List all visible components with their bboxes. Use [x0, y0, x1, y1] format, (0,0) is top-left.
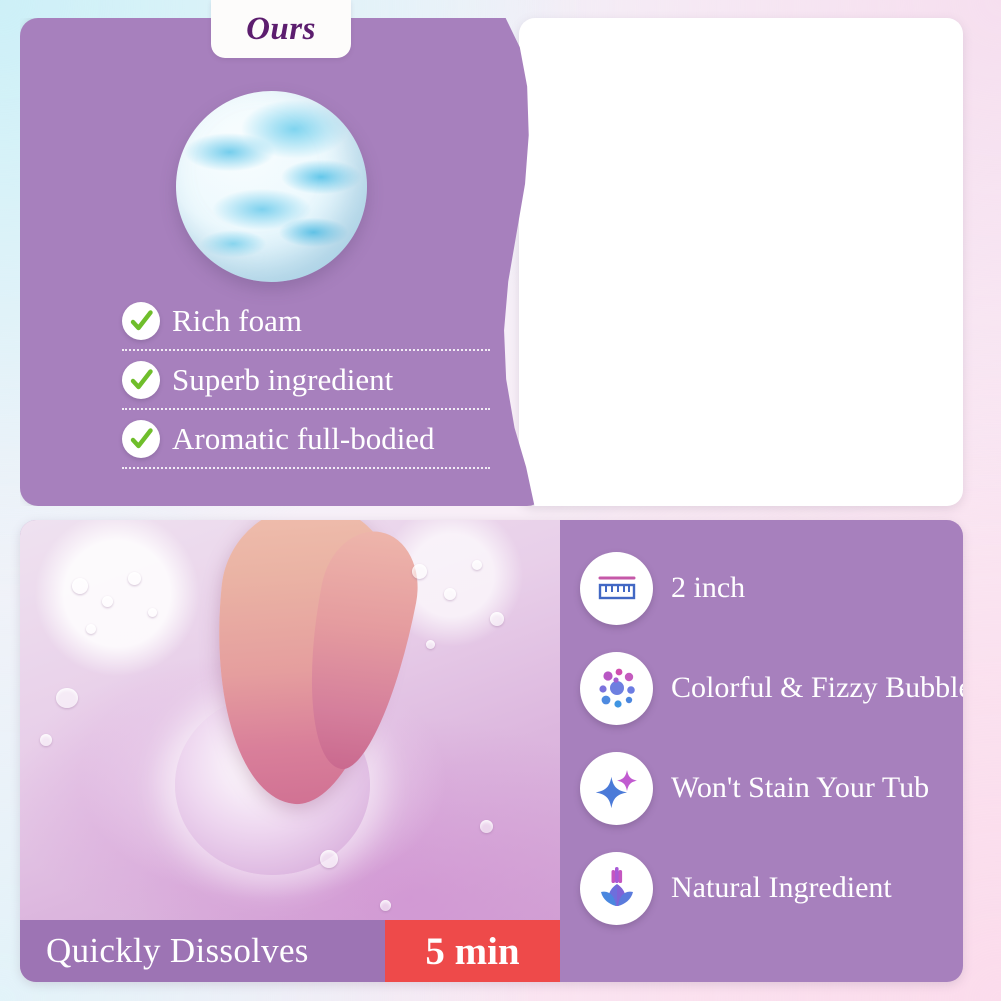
bubble: [102, 596, 113, 607]
bubble: [56, 688, 78, 708]
list-item: Aromatic full-bodied: [122, 410, 490, 467]
bubble: [72, 578, 88, 594]
ours-tab: Ours: [211, 0, 351, 58]
bubble: [86, 624, 96, 634]
list-item: Superb ingredient: [122, 351, 490, 408]
feature-row: Won't Stain Your Tub: [560, 738, 963, 838]
ruler-icon: [580, 552, 653, 625]
feature-label: Natural Ingredient: [671, 873, 892, 903]
bubble: [40, 734, 52, 746]
feature-list: 2 inch: [560, 520, 963, 982]
bubble: [444, 588, 456, 600]
feature-row: 2 inch: [560, 538, 963, 638]
list-item-label: Superb ingredient: [172, 364, 393, 395]
others-panel: Others Low foam: [519, 18, 963, 506]
infographic-canvas: Others Low foam: [0, 0, 1001, 1001]
check-icon: [122, 420, 160, 458]
bottom-panel: Quickly Dissolves 5 min 2 i: [20, 520, 963, 982]
dissolve-banner: Quickly Dissolves 5 min: [20, 920, 560, 982]
dissolve-time-badge: 5 min: [385, 920, 560, 982]
bubble: [380, 900, 391, 911]
list-item-label: Rich foam: [172, 305, 302, 336]
ours-product-image: [176, 91, 367, 282]
feature-row: Colorful & Fizzy Bubbles: [560, 638, 963, 738]
bubble: [320, 850, 338, 868]
bubble: [426, 640, 435, 649]
check-icon: [122, 302, 160, 340]
bubble: [480, 820, 493, 833]
feature-label: 2 inch: [671, 573, 745, 603]
bubble: [128, 572, 141, 585]
feature-row: Natural Ingredient: [560, 838, 963, 938]
sparkle-icon: [580, 752, 653, 825]
bubble: [148, 608, 157, 617]
dissolving-bath-bomb-photo: Quickly Dissolves 5 min: [20, 520, 560, 982]
bubble: [490, 612, 504, 626]
feature-label: Colorful & Fizzy Bubbles: [671, 673, 963, 703]
lavender-icon: [580, 852, 653, 925]
list-item-label: Aromatic full-bodied: [172, 423, 435, 454]
divider: [122, 467, 490, 469]
bubble: [472, 560, 482, 570]
list-item: Rich foam: [122, 292, 490, 349]
feature-label: Won't Stain Your Tub: [671, 773, 929, 803]
check-icon: [122, 361, 160, 399]
ours-feature-list: Rich foam Superb ingredient Aromatic ful…: [122, 292, 490, 469]
bubbles-icon: [580, 652, 653, 725]
dissolve-label: Quickly Dissolves: [20, 920, 385, 982]
bubble: [412, 564, 427, 579]
